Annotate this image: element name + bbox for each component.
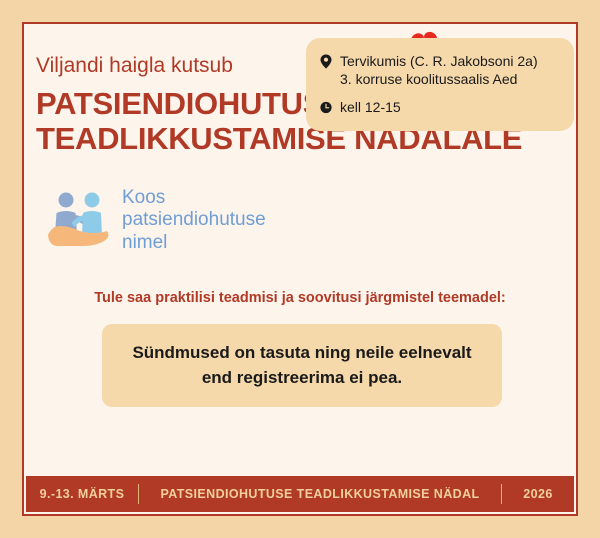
poster-kicker: Viljandi haigla kutsub (36, 54, 233, 78)
poster: Viljandi Haigla Viljandi haigla kutsub P… (0, 0, 600, 538)
poster-frame: Viljandi Haigla Viljandi haigla kutsub P… (22, 22, 578, 516)
campaign-logo: Koos patsiendiohutuse nimel (46, 187, 266, 254)
info-time-line-1: kell 12-15 (340, 98, 401, 116)
two-people-in-hand-icon (46, 187, 116, 254)
notice-box: Sündmused on tasuta ning neile eelnevalt… (102, 324, 502, 407)
campaign-logo-text: Koos patsiendiohutuse nimel (122, 187, 266, 253)
event-info-card: Tervikumis (C. R. Jakobsoni 2a) 3. korru… (306, 38, 574, 131)
footer-bar: 9.-13. MÄRTS PATSIENDIOHUTUSE TEADLIKKUS… (26, 476, 574, 512)
info-row-time: kell 12-15 (320, 98, 560, 118)
info-row-location: Tervikumis (C. R. Jakobsoni 2a) 3. korru… (320, 52, 560, 89)
info-location-line-1: Tervikumis (C. R. Jakobsoni 2a) (340, 52, 538, 70)
info-time-text: kell 12-15 (340, 98, 401, 116)
notice-line-2: end registreerima ei pea. (122, 366, 482, 391)
clock-icon (320, 98, 333, 118)
info-location-line-2: 3. korruse koolitussaalis Aed (340, 70, 538, 88)
notice-line-1: Sündmused on tasuta ning neile eelnevalt (122, 341, 482, 366)
footer-dates: 9.-13. MÄRTS (26, 487, 138, 501)
campaign-logo-line-3: nimel (122, 232, 266, 254)
poster-content: Viljandi Haigla Viljandi haigla kutsub P… (24, 24, 576, 514)
headline-line-1: PATSIENDIOHUTUSE (36, 86, 344, 121)
footer-title: PATSIENDIOHUTUSE TEADLIKKUSTAMISE NÄDAL (139, 487, 501, 501)
campaign-logo-line-2: patsiendiohutuse (122, 209, 266, 231)
info-location-text: Tervikumis (C. R. Jakobsoni 2a) 3. korru… (340, 52, 538, 89)
campaign-logo-line-1: Koos (122, 187, 266, 209)
footer-year: 2026 (502, 487, 574, 501)
location-pin-icon (320, 52, 333, 73)
topics-prompt: Tule saa praktilisi teadmisi ja soovitus… (24, 290, 576, 306)
